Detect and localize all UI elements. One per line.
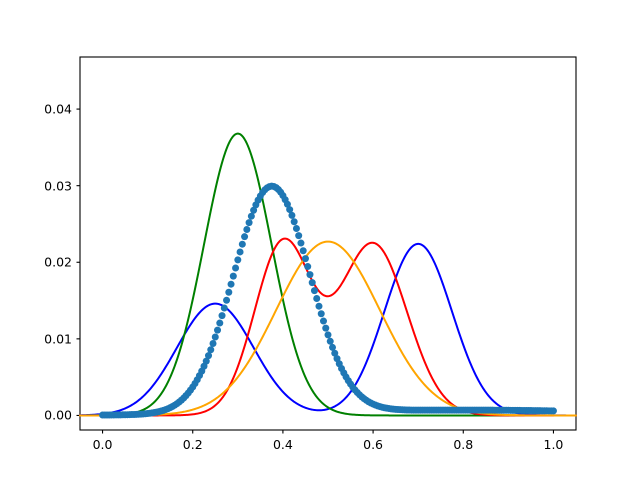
scatter-point: [210, 340, 217, 347]
scatter-point: [223, 297, 230, 304]
scatter-point: [297, 240, 304, 247]
scatter-point: [295, 232, 302, 239]
scatter-point: [230, 273, 237, 280]
scatter-point: [318, 310, 325, 317]
scatter-point: [322, 325, 329, 332]
scatter-point: [232, 264, 239, 271]
scatter-point: [207, 346, 214, 353]
scatter-point: [320, 318, 327, 325]
scatter-point: [311, 287, 318, 294]
matplotlib-figure: 0.00.20.40.60.81.0 0.000.010.020.030.04: [0, 0, 640, 480]
axes-spines: [80, 57, 576, 430]
x-tick-label: 0.0: [93, 437, 113, 452]
scatter-point: [315, 303, 322, 310]
scatter-point: [243, 226, 250, 233]
scatter-point: [302, 255, 309, 262]
scatter-point: [234, 256, 241, 263]
scatter-point: [219, 312, 226, 319]
scatter-point: [309, 279, 316, 286]
scatter-point: [300, 247, 307, 254]
scatter-point: [228, 281, 235, 288]
chart-canvas: [0, 0, 640, 480]
scatter-point: [327, 338, 334, 345]
scatter-point: [225, 289, 232, 296]
x-tick-label: 0.4: [273, 437, 293, 452]
x-tick-label: 1.0: [544, 437, 564, 452]
scatter-point: [306, 271, 313, 278]
scatter-point: [241, 233, 248, 240]
axes-frame: [80, 57, 576, 430]
scatter-point: [221, 305, 228, 312]
scatter-point: [293, 225, 300, 232]
x-tick-label: 0.8: [453, 437, 473, 452]
scatter-point: [237, 248, 244, 255]
x-tick-label: 0.2: [183, 437, 203, 452]
y-tick-label: 0.03: [0, 178, 72, 193]
y-tick-label: 0.01: [0, 331, 72, 346]
y-tick-label: 0.00: [0, 408, 72, 423]
scatter-point: [304, 263, 311, 270]
scatter-point: [212, 334, 219, 341]
scatter-point: [550, 407, 557, 414]
scatter-point: [313, 295, 320, 302]
scatter-point: [291, 218, 298, 225]
scatter-point: [325, 331, 332, 338]
x-tick-label: 0.6: [363, 437, 383, 452]
y-tick-label: 0.04: [0, 102, 72, 117]
scatter-point: [239, 241, 246, 248]
y-tick-label: 0.02: [0, 255, 72, 270]
scatter-point: [216, 320, 223, 327]
scatter-point: [246, 219, 253, 226]
scatter-point: [214, 327, 221, 334]
scatter-point: [288, 212, 295, 219]
